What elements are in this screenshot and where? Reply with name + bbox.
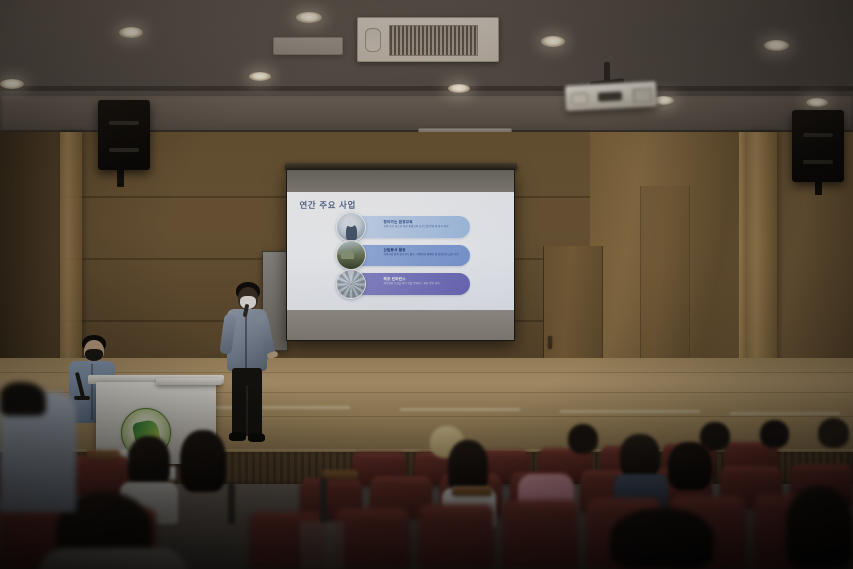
seat-support-leg	[320, 478, 327, 524]
seat-headrest	[722, 466, 779, 476]
audience-head	[180, 430, 226, 492]
seat[interactable]	[502, 500, 578, 569]
seat-headrest	[505, 500, 575, 517]
presenter-with-microphone	[218, 282, 276, 448]
slide-row-2: 산림봉사 활동 지역사회 연계 숲가꾸기 활동, 자연정화 캠페인 및 환경보전…	[352, 245, 470, 267]
slide-row-1-text: 찾아가는 환경교육 유아·초등·청소년 대상 환경교육 프로그램 운영 및 강사…	[384, 220, 467, 229]
seat[interactable]	[418, 504, 494, 569]
aisle-step	[300, 522, 344, 569]
side-table	[156, 378, 222, 385]
screen-mask-top	[287, 170, 514, 192]
audience-head	[786, 486, 853, 569]
seat-armrest[interactable]	[322, 470, 358, 479]
speaker-grille-icon	[803, 160, 832, 164]
seat-headrest	[354, 452, 404, 460]
ceiling-ac-vent-secondary	[273, 37, 343, 55]
floor-reflection	[560, 410, 700, 413]
auditorium-scene: 연간 주요 사업 찾아가는 환경교육 유아·초등·청소년 대상 환경교육 프로그…	[0, 0, 853, 569]
projector-lens-icon	[571, 92, 588, 105]
speaker-grille-icon	[803, 133, 832, 137]
slide-row-2-text: 산림봉사 활동 지역사회 연계 숲가꾸기 활동, 자연정화 캠페인 및 환경보전…	[384, 248, 467, 257]
downlight-icon	[119, 27, 143, 38]
wall-speaker-right	[792, 110, 844, 182]
podium-presenter-face-mask	[85, 349, 103, 361]
presenter-shoe-left	[229, 432, 246, 441]
seat-headrest	[337, 508, 407, 523]
presenter-shoe-right	[248, 433, 265, 442]
seat-headrest	[372, 476, 429, 486]
slide-row-1-body: 유아·초등·청소년 대상 환경교육 프로그램 운영 및 강사 파견	[384, 225, 467, 229]
downlight-icon	[249, 72, 271, 81]
jacket-zipper	[245, 312, 247, 368]
pants-crease	[246, 386, 248, 436]
ceiling-ac-vent	[357, 17, 499, 62]
slide-row-1: 찾아가는 환경교육 유아·초등·청소년 대상 환경교육 프로그램 운영 및 강사…	[352, 216, 470, 238]
floor-reflection	[730, 412, 840, 415]
audience-head	[610, 508, 714, 569]
seat[interactable]	[334, 508, 410, 569]
audience-head	[620, 434, 660, 478]
seat-headrest	[793, 464, 851, 474]
seat-headrest	[302, 478, 359, 488]
shirt-placket	[91, 364, 93, 420]
door-handle-icon[interactable]	[548, 336, 552, 349]
slide-row-2-thumbnail	[336, 240, 366, 270]
audience-head	[0, 382, 46, 416]
seat-armrest[interactable]	[452, 486, 492, 496]
slide-row-3-thumbnail	[336, 269, 366, 299]
audience-head	[568, 424, 598, 454]
downlight-icon	[764, 40, 789, 51]
projected-slide: 연간 주요 사업 찾아가는 환경교육 유아·초등·청소년 대상 환경교육 프로그…	[287, 192, 514, 310]
slide-row-3-body: 해양환경 보전을 위한 학술 컨퍼런스 개최·운영·홍보	[384, 282, 467, 286]
audience-head	[818, 418, 849, 448]
floor-plank-line	[0, 372, 853, 373]
slide-row-3-text: 해양 컨퍼런스 해양환경 보전을 위한 학술 컨퍼런스 개최·운영·홍보	[384, 277, 467, 286]
wall-speaker-left	[98, 100, 150, 170]
downlight-icon	[806, 98, 828, 107]
ac-grille-icon	[389, 25, 478, 56]
audience-head	[128, 436, 170, 488]
slide-row-3: 해양 컨퍼런스 해양환경 보전을 위한 학술 컨퍼런스 개최·운영·홍보	[352, 273, 470, 295]
ceiling-projector	[564, 81, 657, 112]
speaker-grille-icon	[109, 121, 138, 125]
downlight-icon	[296, 12, 322, 23]
floor-reflection	[400, 408, 520, 411]
slide-row-2-body: 지역사회 연계 숲가꾸기 활동, 자연정화 캠페인 및 환경보전 실천 사업	[384, 253, 467, 257]
audience-head	[668, 442, 712, 490]
seat-headrest	[421, 504, 491, 520]
downlight-icon	[448, 84, 470, 93]
ceiling-band	[0, 86, 853, 91]
slide-row-1-thumbnail	[336, 212, 366, 242]
projector-vent-icon	[633, 88, 652, 102]
screen-mask-bottom	[287, 310, 514, 340]
seat-armrest[interactable]	[86, 450, 120, 459]
speaker-grille-icon	[109, 148, 138, 152]
audience-head	[760, 420, 789, 448]
slide-title: 연간 주요 사업	[299, 199, 355, 211]
ac-louver-icon	[365, 28, 381, 52]
projector-panel	[598, 92, 622, 102]
podium-microphone-base	[74, 396, 90, 400]
downlight-icon	[0, 79, 24, 89]
seat-support-leg	[228, 482, 235, 524]
downlight-icon	[541, 36, 565, 47]
audience-torso	[38, 548, 188, 569]
projection-screen-frame: 연간 주요 사업 찾아가는 환경교육 유아·초등·청소년 대상 환경교육 프로그…	[286, 169, 515, 341]
